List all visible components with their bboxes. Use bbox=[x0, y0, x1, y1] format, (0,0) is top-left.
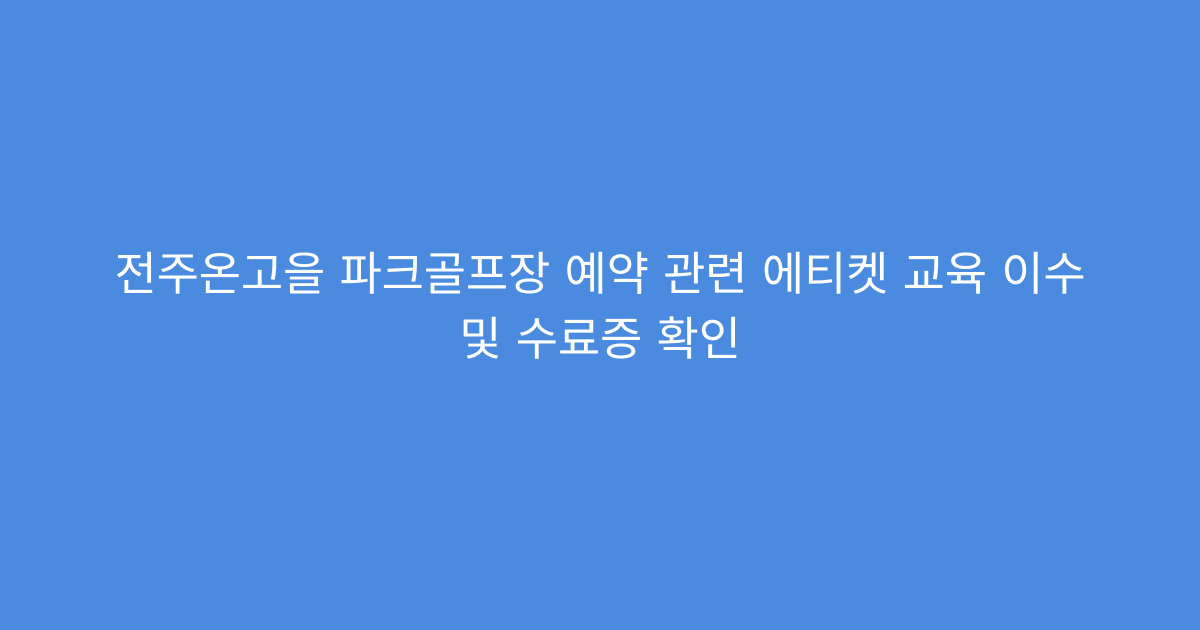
page-title: 전주온고을 파크골프장 예약 관련 에티켓 교육 이수 및 수료증 확인 bbox=[96, 242, 1104, 372]
title-block: 전주온고을 파크골프장 예약 관련 에티켓 교육 이수 및 수료증 확인 bbox=[96, 242, 1104, 372]
og-card: 전주온고을 파크골프장 예약 관련 에티켓 교육 이수 및 수료증 확인 bbox=[0, 0, 1200, 630]
